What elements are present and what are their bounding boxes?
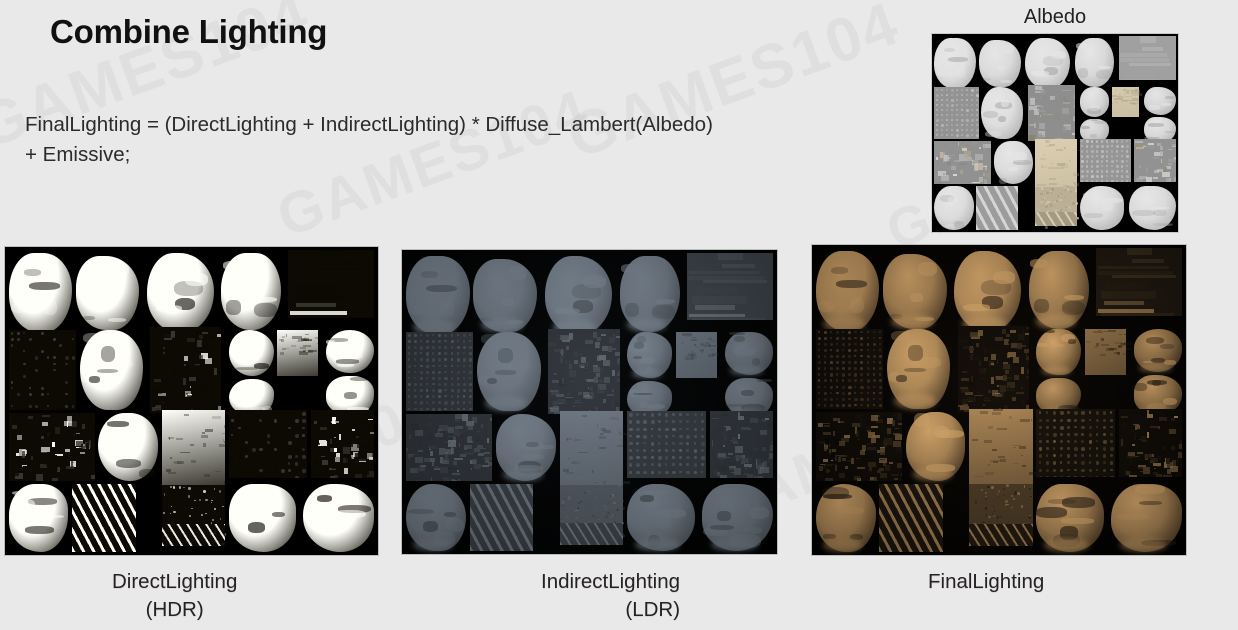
texture-tile	[252, 455, 256, 459]
texture-tile	[1106, 175, 1108, 177]
texture-tile	[1086, 150, 1088, 152]
texture-tile	[1060, 447, 1063, 450]
texture-tile	[1094, 121, 1107, 124]
texture-tile	[451, 358, 453, 360]
texture-tile	[879, 392, 882, 395]
texture-tile	[1128, 466, 1135, 471]
texture-tile	[451, 365, 453, 367]
texture-tile	[961, 134, 963, 136]
texture-tile	[1121, 165, 1123, 167]
texture-tile	[1030, 98, 1035, 105]
texture-tile	[580, 353, 582, 355]
texture-tile	[1121, 175, 1123, 177]
texture-tile	[73, 452, 79, 459]
texture-tile	[173, 379, 178, 380]
texture-tile	[816, 251, 880, 332]
texture-tile	[17, 381, 20, 384]
texture-tile	[185, 273, 207, 286]
texture-tile	[1171, 418, 1175, 421]
indirect-lighting-panel	[402, 250, 777, 554]
texture-tile	[41, 350, 44, 353]
texture-tile	[451, 401, 454, 404]
texture-tile	[597, 391, 604, 393]
texture-tile	[1086, 341, 1091, 343]
texture-tile	[365, 469, 368, 475]
texture-tile	[835, 455, 837, 461]
texture-tile	[191, 460, 196, 463]
texture-tile	[238, 427, 241, 430]
texture-tile	[438, 334, 441, 337]
texture-tile	[971, 94, 973, 96]
texture-tile	[1021, 455, 1023, 456]
texture-tile	[302, 476, 306, 478]
texture-tile	[457, 358, 460, 361]
texture-tile	[851, 458, 855, 465]
texture-tile	[72, 387, 75, 390]
texture-tile	[824, 446, 827, 450]
texture-tile	[288, 448, 291, 451]
texture-tile	[854, 355, 856, 357]
texture-tile	[594, 510, 596, 511]
texture-tile	[1096, 440, 1098, 442]
texture-tile	[55, 427, 60, 434]
texture-tile	[651, 442, 655, 446]
texture-tile	[1174, 161, 1176, 166]
texture-tile	[1118, 514, 1149, 519]
texture-tile	[1076, 43, 1088, 49]
texture-tile	[1112, 275, 1176, 278]
texture-tile	[430, 451, 434, 456]
texture-tile	[440, 467, 447, 473]
texture-tile	[598, 519, 600, 520]
texture-tile	[824, 392, 827, 395]
texture-tile	[474, 448, 479, 452]
texture-tile	[1039, 209, 1040, 211]
texture-tile	[294, 315, 366, 318]
texture-tile	[694, 449, 698, 453]
texture-tile	[1053, 476, 1057, 478]
texture-tile	[1089, 433, 1093, 437]
texture-tile	[426, 389, 428, 391]
texture-tile	[867, 447, 876, 450]
texture-tile	[454, 429, 459, 436]
texture-tile	[421, 440, 429, 447]
texture-tile	[426, 383, 428, 385]
texture-tile	[951, 89, 954, 92]
texture-tile	[966, 124, 968, 126]
texture-tile	[89, 376, 100, 383]
texture-tile	[1106, 145, 1108, 147]
texture-tile	[896, 375, 907, 382]
texture-tile	[162, 356, 166, 362]
texture-tile	[730, 366, 762, 375]
texture-tile	[469, 401, 471, 403]
texture-tile	[295, 455, 298, 458]
texture-tile	[962, 148, 967, 152]
direct-lighting-caption-main: DirectLighting	[112, 570, 237, 593]
texture-tile	[1014, 493, 1017, 495]
texture-tile	[879, 331, 881, 333]
texture-tile	[53, 332, 56, 335]
texture-tile	[1124, 334, 1126, 335]
texture-tile	[701, 471, 704, 474]
texture-tile	[65, 449, 70, 452]
texture-tile	[823, 494, 852, 499]
texture-tile	[830, 367, 833, 370]
texture-tile	[72, 344, 75, 347]
texture-tile	[359, 421, 367, 426]
texture-tile	[1154, 170, 1159, 173]
texture-tile	[692, 296, 747, 304]
texture-tile	[574, 360, 578, 364]
texture-tile	[595, 482, 597, 483]
texture-tile	[288, 476, 292, 478]
texture-tile	[839, 473, 845, 478]
texture-tile	[414, 334, 417, 337]
texture-tile	[1081, 411, 1085, 415]
texture-tile	[1029, 516, 1031, 519]
texture-tile	[1116, 180, 1118, 182]
texture-tile	[1039, 426, 1042, 429]
texture-tile	[936, 109, 938, 111]
texture-tile	[672, 428, 676, 432]
texture-tile	[406, 448, 408, 451]
texture-tile	[17, 356, 20, 359]
texture-tile	[218, 329, 221, 330]
texture-tile	[457, 401, 460, 404]
texture-tile	[487, 378, 498, 384]
texture-tile	[420, 408, 423, 411]
texture-tile	[961, 389, 969, 392]
texture-tile	[29, 338, 32, 341]
texture-tile	[288, 250, 374, 318]
texture-tile	[195, 365, 202, 370]
texture-tile	[1178, 452, 1183, 458]
texture-tile	[731, 472, 739, 473]
texture-tile	[971, 99, 973, 101]
texture-tile	[72, 338, 74, 340]
texture-tile	[836, 355, 839, 358]
texture-tile	[41, 332, 44, 335]
texture-tile	[238, 434, 241, 437]
texture-tile	[1115, 90, 1117, 91]
texture-tile	[873, 379, 876, 382]
texture-tile	[1086, 170, 1089, 173]
texture-tile	[651, 428, 654, 431]
texture-tile	[747, 474, 753, 477]
texture-tile	[841, 507, 864, 513]
texture-tile	[701, 413, 703, 415]
texture-tile	[420, 346, 423, 349]
texture-tile	[1067, 476, 1069, 478]
texture-tile	[22, 466, 23, 468]
texture-tile	[214, 346, 218, 348]
texture-tile	[457, 365, 460, 368]
texture-tile	[444, 389, 446, 391]
texture-tile	[936, 119, 939, 122]
texture-tile	[438, 371, 441, 374]
texture-tile	[836, 367, 839, 370]
texture-tile	[985, 496, 986, 497]
texture-tile	[1053, 433, 1057, 437]
texture-tile	[35, 332, 37, 334]
texture-tile	[610, 516, 612, 518]
texture-tile	[1134, 139, 1176, 183]
texture-tile	[414, 389, 417, 392]
texture-tile	[1039, 440, 1042, 443]
texture-tile	[252, 427, 256, 431]
texture-tile	[592, 470, 594, 473]
direct-lighting-caption-sub: (HDR)	[112, 596, 237, 624]
texture-tile	[1101, 313, 1173, 317]
texture-tile	[848, 337, 851, 340]
texture-tile	[1103, 419, 1107, 423]
texture-tile	[717, 472, 721, 476]
texture-tile	[643, 456, 646, 459]
texture-tile	[1076, 202, 1077, 205]
texture-tile	[682, 342, 683, 345]
texture-tile	[830, 404, 833, 407]
texture-tile	[274, 476, 278, 478]
texture-tile	[221, 253, 281, 330]
texture-tile	[1028, 135, 1035, 141]
texture-tile	[866, 426, 869, 431]
texture-tile	[1103, 440, 1107, 444]
texture-tile	[1101, 291, 1155, 299]
texture-tile	[211, 500, 213, 502]
direct-lighting-panel	[5, 247, 378, 555]
texture-tile	[168, 437, 174, 439]
texture-tile	[59, 350, 61, 352]
texture-tile	[597, 337, 601, 341]
texture-tile	[1148, 123, 1163, 127]
texture-tile	[836, 404, 839, 407]
texture-tile	[481, 334, 501, 344]
texture-tile	[214, 368, 217, 375]
texture-tile	[816, 484, 876, 552]
texture-tile	[1066, 209, 1067, 210]
texture-tile	[150, 327, 221, 413]
texture-tile	[829, 470, 830, 472]
texture-tile	[1165, 96, 1174, 98]
texture-tile	[521, 454, 543, 460]
texture-tile	[199, 400, 201, 404]
texture-tile	[946, 99, 949, 102]
texture-tile	[300, 352, 307, 354]
texture-tile	[891, 474, 899, 477]
texture-tile	[867, 443, 873, 445]
texture-tile	[616, 331, 619, 332]
texture-tile	[1063, 125, 1070, 126]
texture-tile	[1053, 344, 1065, 347]
texture-tile	[948, 197, 958, 202]
texture-tile	[686, 442, 689, 445]
texture-tile	[217, 350, 222, 354]
texture-tile	[1160, 151, 1163, 156]
texture-tile	[757, 379, 771, 382]
texture-tile	[836, 386, 838, 388]
texture-tile	[860, 398, 863, 401]
texture-tile	[290, 268, 361, 271]
texture-tile	[274, 455, 276, 457]
texture-tile	[686, 336, 691, 337]
texture-tile	[823, 466, 825, 469]
texture-tile	[12, 491, 30, 495]
texture-tile	[983, 173, 986, 176]
texture-tile	[1111, 175, 1113, 177]
texture-tile	[1021, 387, 1023, 390]
texture-tile	[184, 506, 187, 507]
texture-tile	[723, 445, 726, 447]
texture-tile	[585, 368, 587, 369]
texture-tile	[1139, 439, 1141, 440]
texture-tile	[879, 367, 882, 370]
texture-tile	[1014, 491, 1017, 493]
texture-tile	[344, 392, 357, 399]
texture-tile	[560, 523, 624, 544]
texture-tile	[408, 352, 410, 354]
texture-tile	[47, 338, 49, 340]
texture-tile	[936, 129, 938, 131]
texture-tile	[406, 414, 492, 481]
texture-tile	[1011, 506, 1013, 509]
texture-tile	[622, 481, 631, 484]
texture-tile	[1059, 199, 1062, 202]
texture-tile	[503, 468, 543, 481]
texture-tile	[1039, 469, 1042, 472]
texture-tile	[842, 373, 845, 376]
texture-tile	[629, 435, 632, 438]
texture-tile	[487, 438, 489, 443]
texture-tile	[311, 445, 313, 446]
texture-tile	[634, 342, 645, 349]
texture-tile	[252, 441, 256, 445]
texture-tile	[205, 429, 213, 432]
texture-tile	[432, 395, 435, 398]
texture-tile	[1091, 175, 1094, 178]
texture-tile	[848, 373, 851, 376]
texture-tile	[579, 503, 581, 504]
texture-tile	[420, 383, 423, 386]
texture-tile	[201, 386, 203, 391]
texture-tile	[174, 461, 181, 463]
texture-tile	[1074, 426, 1077, 429]
texture-tile	[72, 363, 75, 366]
texture-tile	[665, 413, 668, 416]
texture-tile	[9, 484, 69, 552]
texture-tile	[1111, 180, 1113, 182]
texture-tile	[979, 147, 981, 149]
texture-tile	[1062, 90, 1071, 91]
texture-tile	[918, 262, 937, 276]
texture-tile	[830, 379, 833, 382]
texture-tile	[231, 462, 234, 465]
texture-tile	[432, 340, 435, 343]
texture-tile	[231, 441, 234, 444]
texture-tile	[68, 432, 70, 435]
texture-tile	[665, 471, 669, 475]
texture-tile	[415, 457, 423, 462]
texture-tile	[304, 277, 368, 280]
texture-tile	[980, 378, 985, 379]
texture-tile	[211, 511, 213, 513]
texture-tile	[1029, 488, 1031, 491]
texture-tile	[1046, 140, 1050, 142]
texture-tile	[604, 377, 610, 383]
texture-tile	[414, 346, 417, 349]
texture-tile	[873, 337, 876, 340]
texture-tile	[463, 401, 465, 403]
texture-tile	[720, 475, 728, 478]
texture-tile	[24, 269, 41, 276]
texture-tile	[977, 391, 980, 394]
texture-tile	[65, 375, 67, 377]
texture-tile	[53, 393, 55, 395]
texture-tile	[257, 297, 277, 302]
texture-tile	[495, 370, 516, 374]
texture-tile	[1034, 299, 1049, 314]
texture-tile	[22, 465, 27, 466]
texture-tile	[463, 352, 465, 354]
texture-tile	[24, 447, 27, 449]
texture-tile	[1067, 188, 1069, 191]
texture-tile	[1161, 103, 1171, 106]
texture-tile	[29, 399, 31, 401]
texture-tile	[288, 419, 291, 422]
texture-tile	[331, 421, 339, 423]
texture-tile	[508, 266, 527, 280]
texture-tile	[1096, 411, 1099, 414]
texture-tile	[41, 344, 44, 347]
texture-tile	[1081, 150, 1083, 152]
texture-tile	[1008, 167, 1018, 171]
texture-tile	[672, 420, 675, 423]
texture-tile	[578, 452, 588, 453]
texture-tile	[469, 358, 472, 361]
texture-tile	[221, 491, 224, 493]
texture-tile	[328, 445, 334, 452]
texture-tile	[1019, 446, 1026, 449]
texture-tile	[469, 352, 472, 355]
texture-tile	[687, 253, 773, 320]
texture-tile	[765, 418, 768, 420]
texture-tile	[1096, 145, 1099, 148]
texture-tile	[954, 160, 961, 162]
texture-tile	[901, 473, 902, 476]
texture-tile	[1131, 429, 1134, 432]
texture-tile	[877, 470, 881, 474]
texture-tile	[1090, 134, 1097, 137]
texture-tile	[23, 338, 25, 340]
texture-tile	[936, 134, 938, 136]
texture-tile	[651, 463, 654, 466]
texture-tile	[224, 425, 225, 428]
texture-tile	[457, 470, 460, 471]
texture-tile	[65, 387, 68, 390]
texture-tile	[962, 371, 966, 373]
texture-tile	[1010, 330, 1016, 332]
texture-tile	[35, 338, 38, 341]
texture-tile	[480, 448, 486, 449]
texture-tile	[573, 406, 575, 408]
texture-tile	[245, 434, 249, 438]
texture-tile	[579, 474, 583, 476]
texture-tile	[981, 489, 983, 492]
texture-tile	[979, 361, 981, 367]
texture-tile	[281, 462, 285, 466]
texture-tile	[961, 400, 963, 405]
texture-tile	[993, 505, 994, 508]
